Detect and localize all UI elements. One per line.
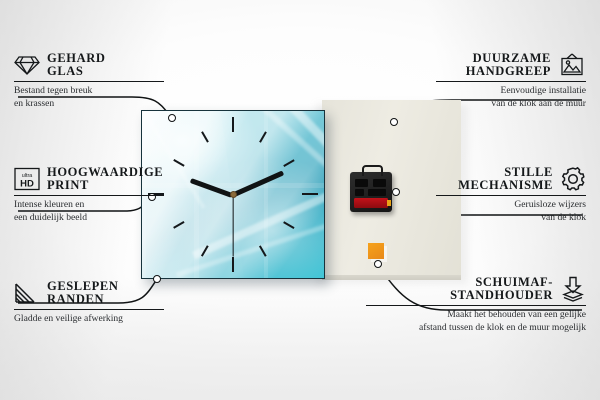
battery bbox=[354, 198, 388, 208]
feature-title-line1: GESLEPEN bbox=[47, 280, 119, 293]
feature-divider bbox=[366, 305, 586, 306]
mechanism-slot-3 bbox=[355, 189, 364, 196]
feature-desc-line1: Geruisloze wijzers bbox=[436, 199, 586, 212]
mechanism-slot-4 bbox=[368, 189, 386, 196]
feature-hd-print: ultra HD HOOGWAARDIGE PRINT Intense kleu… bbox=[14, 166, 164, 225]
feature-title-line2: MECHANISME bbox=[458, 179, 553, 192]
feature-desc-line1: Bestand tegen breuk bbox=[14, 85, 164, 98]
feature-titles: STILLE MECHANISME bbox=[458, 166, 553, 192]
leader-dot-tempered-glass bbox=[168, 114, 176, 122]
picture-frame-icon bbox=[558, 53, 586, 77]
second-hand bbox=[232, 195, 233, 257]
feature-desc-line2: van de klok bbox=[436, 212, 586, 225]
feature-header: GEHARD GLAS bbox=[14, 52, 164, 78]
feature-header: ultra HD HOOGWAARDIGE PRINT bbox=[14, 166, 164, 192]
feature-title-line2: RANDEN bbox=[47, 293, 119, 306]
feature-desc-line2: een duidelijk beeld bbox=[14, 212, 164, 225]
feature-foam-spacer: SCHUIMAF- STANDHOUDER Maakt het behouden… bbox=[366, 276, 586, 335]
feature-divider bbox=[14, 81, 164, 82]
product-clock bbox=[141, 110, 325, 279]
feature-desc-line1: Gladde en veilige afwerking bbox=[14, 313, 164, 326]
infographic-canvas: GEHARD GLAS Bestand tegen breuk en krass… bbox=[0, 0, 600, 400]
feature-divider bbox=[14, 309, 164, 310]
feature-titles: DUURZAME HANDGREEP bbox=[466, 52, 551, 78]
feature-polished-edges: GESLEPEN RANDEN Gladde en veilige afwerk… bbox=[14, 280, 164, 326]
tick-3 bbox=[302, 193, 318, 195]
feature-titles: SCHUIMAF- STANDHOUDER bbox=[450, 276, 553, 302]
feature-divider bbox=[436, 81, 586, 82]
feature-header: DUURZAME HANDGREEP bbox=[436, 52, 586, 78]
feature-desc-line2: en krassen bbox=[14, 98, 164, 111]
feature-titles: GESLEPEN RANDEN bbox=[47, 280, 119, 306]
feature-title-line1: GEHARD bbox=[47, 52, 105, 65]
feature-title-line2: GLAS bbox=[47, 65, 105, 78]
feature-header: SCHUIMAF- STANDHOUDER bbox=[366, 276, 586, 302]
feature-silent-mechanism: STILLE MECHANISME Geruisloze wijzers van… bbox=[436, 166, 586, 225]
feature-header: GESLEPEN RANDEN bbox=[14, 280, 164, 306]
leader-dot-foam-spacer bbox=[374, 260, 382, 268]
feature-title-line2: PRINT bbox=[47, 179, 163, 192]
feature-divider bbox=[436, 195, 586, 196]
clock-mechanism bbox=[350, 172, 392, 212]
feature-desc-line1: Intense kleuren en bbox=[14, 199, 164, 212]
feature-durable-hanger: DUURZAME HANDGREEP Eenvoudige installati… bbox=[436, 52, 586, 111]
mechanism-hook-icon bbox=[362, 165, 383, 176]
leader-dot-durable-hanger bbox=[390, 118, 398, 126]
feature-title-line1: HOOGWAARDIGE bbox=[47, 166, 163, 179]
mechanism-slot-1 bbox=[355, 179, 368, 187]
feature-titles: GEHARD GLAS bbox=[47, 52, 105, 78]
hatched-edge-icon bbox=[14, 282, 40, 304]
feature-title-line2: STANDHOUDER bbox=[450, 289, 553, 302]
feature-desc-line1: Eenvoudige installatie bbox=[436, 85, 586, 98]
svg-text:HD: HD bbox=[20, 178, 34, 189]
feature-desc-line2: van de klok aan de muur bbox=[436, 98, 586, 111]
feature-desc-line2: afstand tussen de klok en de muur mogeli… bbox=[366, 322, 586, 335]
tick-12 bbox=[232, 117, 234, 132]
feature-divider bbox=[14, 195, 164, 196]
gear-icon bbox=[560, 166, 586, 192]
feature-desc-line1: Maakt het behouden van een gelijke bbox=[366, 309, 586, 322]
feature-titles: HOOGWAARDIGE PRINT bbox=[47, 166, 163, 192]
feature-title-line2: HANDGREEP bbox=[466, 65, 551, 78]
mechanism-slot-2 bbox=[373, 179, 386, 187]
feature-title-line1: DUURZAME bbox=[466, 52, 551, 65]
feature-header: STILLE MECHANISME bbox=[436, 166, 586, 192]
ultra-hd-icon: ultra HD bbox=[14, 167, 40, 191]
leader-dot-silent-mechanism bbox=[392, 188, 400, 196]
foam-spacer-pad bbox=[368, 243, 384, 259]
press-down-icon bbox=[560, 276, 586, 302]
diamond-icon bbox=[14, 54, 40, 76]
feature-tempered-glass: GEHARD GLAS Bestand tegen breuk en krass… bbox=[14, 52, 164, 111]
tick-6 bbox=[232, 257, 234, 272]
hands-center-cap bbox=[230, 191, 237, 198]
